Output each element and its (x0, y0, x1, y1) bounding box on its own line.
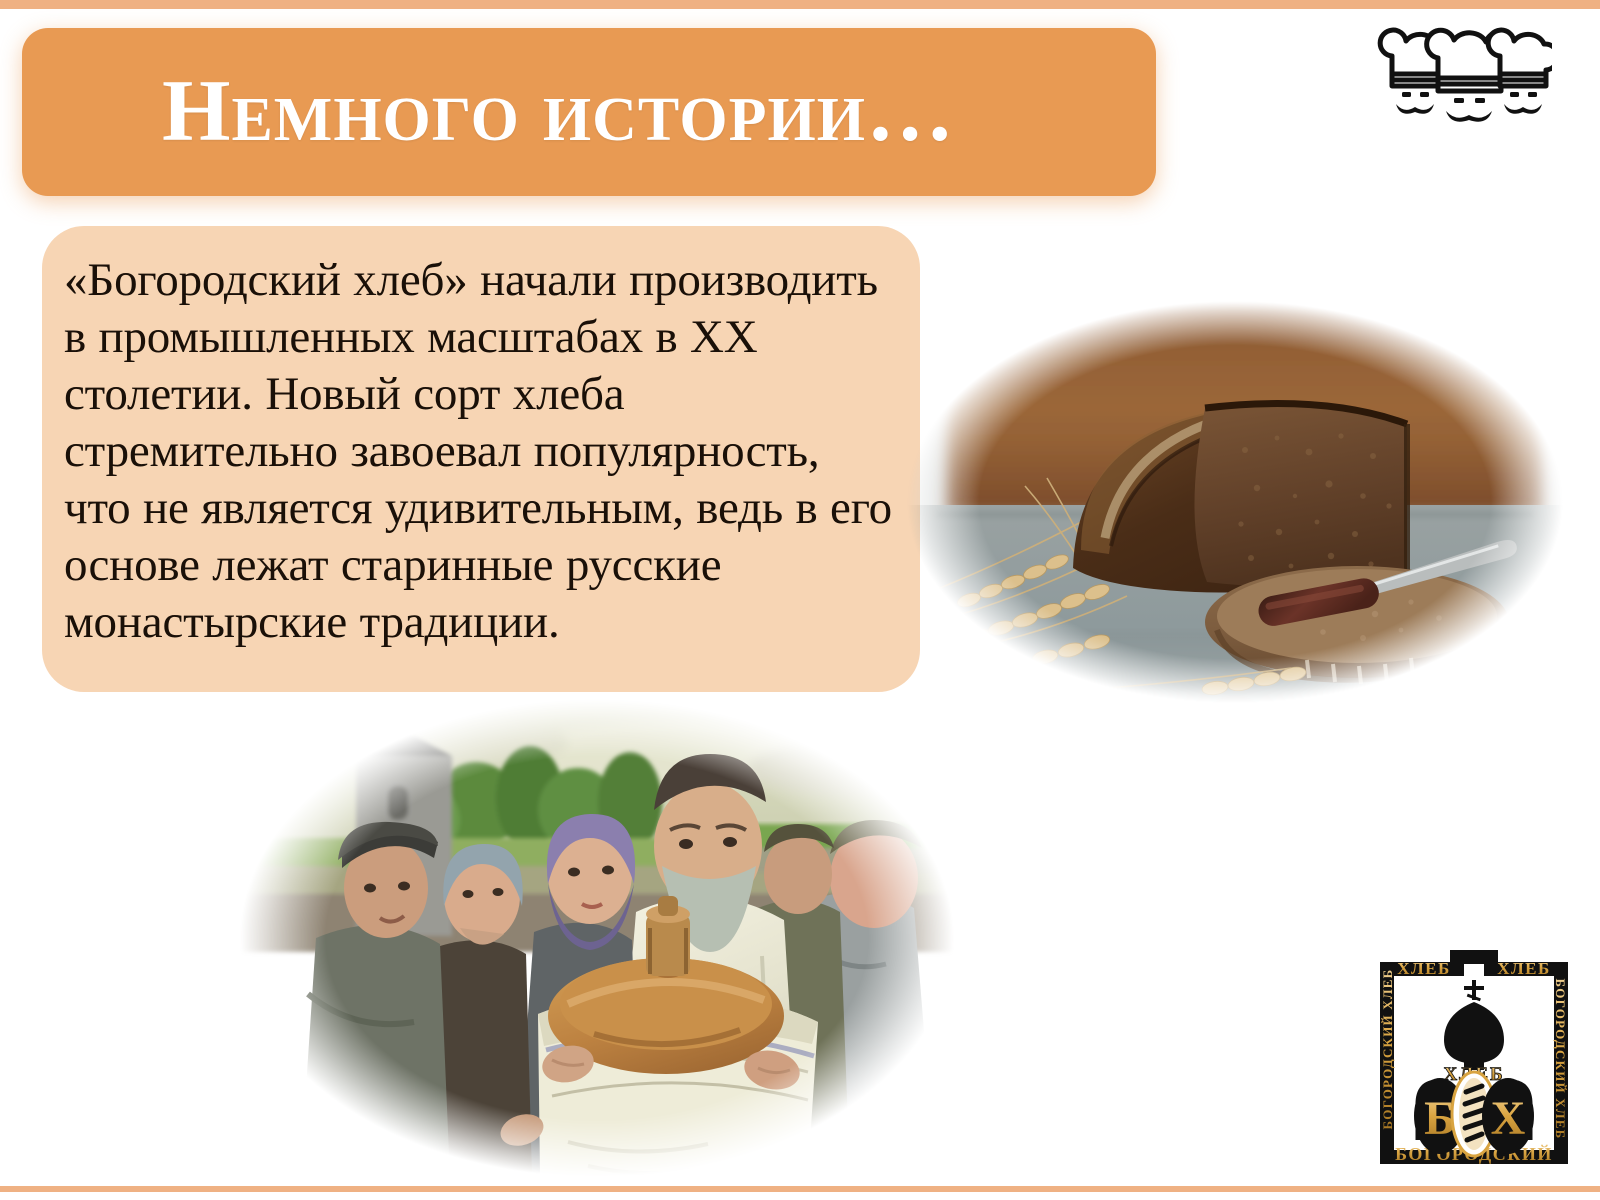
body-paragraph: «Богородский хлеб» начали производить в … (64, 252, 892, 651)
chef-hats-icon (1372, 26, 1552, 122)
page-title: Немного истории… (162, 68, 955, 156)
title-plaque: Немного истории… (22, 28, 1156, 196)
dark-rye-bread-photo (905, 300, 1565, 704)
logo-left-border-word: БОГОРОДСКИЙ ХЛЕБ (1380, 969, 1395, 1130)
accent-bar-bottom (0, 1186, 1600, 1192)
logo-top-left-word: ХЛЕБ (1397, 959, 1451, 978)
logo-top-right-word: ХЛЕБ (1497, 959, 1551, 978)
accent-bar-top (0, 0, 1600, 9)
logo-right-border-word: БОГОРОДСКИЙ ХЛЕБ (1553, 979, 1568, 1140)
body-text-card: «Богородский хлеб» начали производить в … (42, 226, 920, 692)
russian-peasants-bread-painting (238, 698, 956, 1178)
logo-monogram-right: Х (1491, 1092, 1526, 1145)
chef-hat-icon-right (1488, 30, 1552, 86)
bogorodsky-hleb-logo: ХЛЕБ ХЛЕБ БОГОРОДСКИЙ ХЛЕБ БОГОРОДСКИЙ Х… (1368, 928, 1580, 1176)
